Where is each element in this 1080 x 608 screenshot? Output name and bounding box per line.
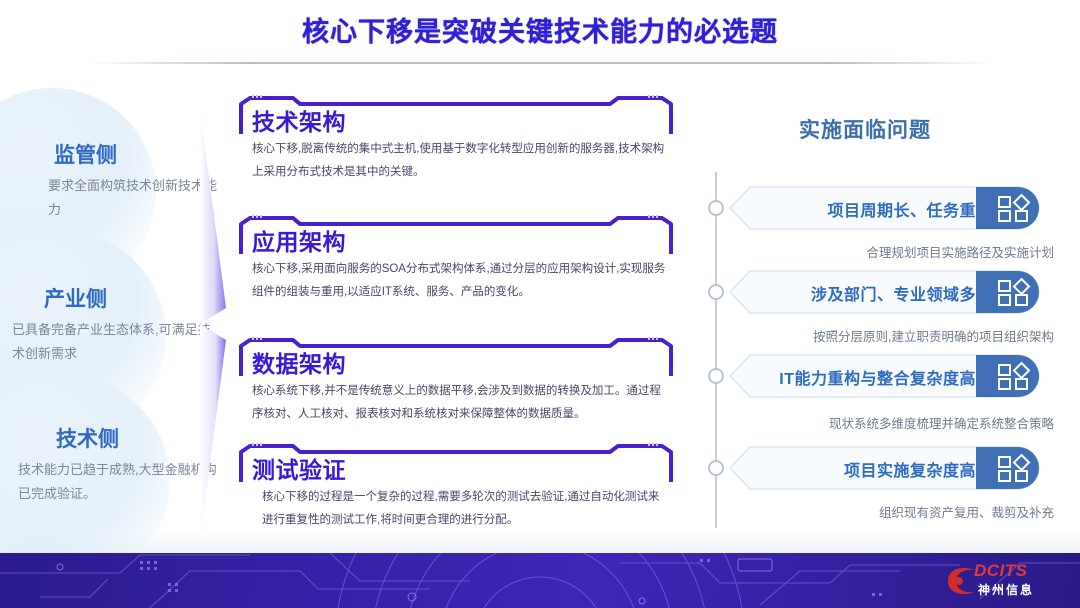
direction-arrow-icon [196,108,230,540]
logo-text: DCITS [974,561,1028,581]
issue-label: IT能力重构与整合复杂度高 [779,365,976,389]
issue-subtext: 合理规划项目实施路径及实施计划 [866,242,1054,261]
footer-band: DCITS 神州信息 [0,553,1080,608]
issue-item-1[interactable]: 项目周期长、任务重 [728,186,1040,230]
timeline-dot [708,200,724,216]
issue-subtext: 按照分层原则,建立职责明确的项目组织架构 [813,326,1054,345]
issue-item-2[interactable]: 涉及部门、专业领域多 [728,270,1040,314]
card-heading: 数据架构 [252,345,346,379]
title-area: 核心下移是突破关键技术能力的必选题 [0,0,1080,68]
card-body: 核心下移,脱离传统的集中式主机,使用基于数字化转型应用创新的服务器,技术架构上采… [252,138,670,184]
left-item-industry: 产业侧 已具备完备产业生态体系,可满足技术创新需求 [6,288,216,366]
issue-label: 涉及部门、专业领域多 [811,281,976,305]
left-item-body: 已具备完备产业生态体系,可满足技术创新需求 [6,318,216,366]
card-heading: 测试验证 [252,451,346,485]
card-body: 核心下移的过程是一个复杂的过程,需要多轮次的测试去验证,通过自动化测试来进行重复… [262,486,670,532]
slide-root: 核心下移是突破关键技术能力的必选题 监管侧 要求全面构筑技术创新技术能力 产业侧… [0,0,1080,608]
timeline-dot [708,460,724,476]
issue-item-4[interactable]: 项目实施复杂度高 [728,446,1040,490]
right-panel-title: 实施面临问题 [700,114,1030,144]
architecture-card-list: 技术架构 核心下移,脱离传统的集中式主机,使用基于数字化转型应用创新的服务器,技… [238,94,684,546]
timeline-dot [708,368,724,384]
left-item-body: 技术能力已趋于成熟,大型金融机构已完成验证。 [10,458,220,506]
page-title: 核心下移是突破关键技术能力的必选题 [0,10,1080,49]
footer-glow [0,531,1080,553]
card-heading: 技术架构 [252,103,346,137]
left-item-heading: 监管侧 [12,144,222,168]
card-body: 核心下移,采用面向服务的SOA分布式架构体系,通过分层的应用架构设计,实现服务组… [252,258,670,304]
four-blocks-icon [992,360,1036,392]
card-body: 核心系统下移,并不是传统意义上的数据平移,会涉及到数据的转换及加工。通过程序核对… [252,380,670,426]
issue-label: 项目周期长、任务重 [827,197,976,221]
title-divider [88,62,992,64]
left-item-body: 要求全面构筑技术创新技术能力 [12,174,222,222]
card-application-architecture[interactable]: 应用架构 核心下移,采用面向服务的SOA分布式架构体系,通过分层的应用架构设计,… [238,214,684,326]
left-item-heading: 产业侧 [6,288,216,312]
right-panel: 实施面临问题 项目周期长、任务重 合理规划项目实施路径及实施计划 [700,100,1060,540]
card-heading: 应用架构 [252,223,346,257]
card-tech-architecture[interactable]: 技术架构 核心下移,脱离传统的集中式主机,使用基于数字化转型应用创新的服务器,技… [238,94,684,206]
issue-subtext: 现状系统多维度梳理并确定系统整合策略 [829,413,1054,432]
card-data-architecture[interactable]: 数据架构 核心系统下移,并不是传统意义上的数据平移,会涉及到数据的转换及加工。通… [238,336,684,448]
four-blocks-icon [992,276,1036,308]
company-logo: DCITS 神州信息 [944,561,1064,601]
circuit-pattern-icon [0,553,1080,608]
issue-subtext: 组织现有资产复用、裁剪及补充 [879,502,1054,521]
logo-subtext: 神州信息 [978,581,1034,598]
issue-item-3[interactable]: IT能力重构与整合复杂度高 [728,354,1040,398]
issue-label: 项目实施复杂度高 [844,457,976,481]
left-item-regulator: 监管侧 要求全面构筑技术创新技术能力 [12,144,222,222]
timeline-dot [708,284,724,300]
four-blocks-icon [992,192,1036,224]
left-item-technology: 技术侧 技术能力已趋于成熟,大型金融机构已完成验证。 [10,428,220,506]
four-blocks-icon [992,452,1036,484]
left-item-heading: 技术侧 [10,428,220,452]
